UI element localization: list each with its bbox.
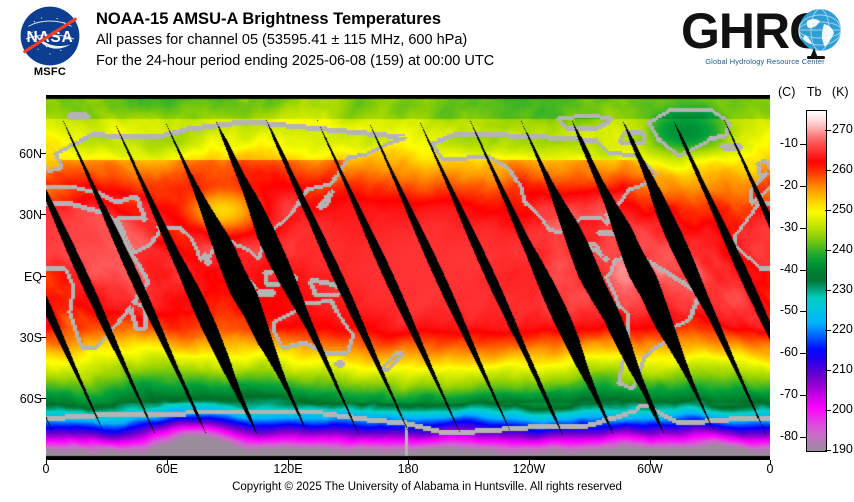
nasa-meatball-icon: NASA	[20, 6, 80, 66]
lon-tick-60e	[167, 460, 168, 465]
colorbar-celsius-label-5: -50	[768, 304, 798, 316]
colorbar-celsius-label-7: -70	[768, 388, 798, 400]
colorbar[interactable]	[806, 110, 827, 452]
lat-label-60n: 60N	[2, 148, 42, 160]
colorbar-kelvin-label-5: 220	[832, 323, 854, 335]
nasa-logo: NASA MSFC	[14, 6, 86, 84]
colorbar-unit-celsius: (C)	[778, 85, 795, 99]
colorbar-kelvin-label-7: 200	[832, 403, 854, 415]
colorbar-celsius-tick-7	[800, 395, 806, 396]
lon-tick-180	[408, 460, 409, 465]
colorbar-kelvin-tick-1	[825, 170, 831, 171]
colorbar-celsius-label-4: -40	[768, 263, 798, 275]
colorbar-kelvin-label-0: 270	[832, 123, 854, 135]
colorbar-kelvin-tick-6	[825, 370, 831, 371]
lat-tick-60n	[40, 153, 46, 154]
subtitle-period: For the 24-hour period ending 2025-06-08…	[96, 51, 494, 72]
colorbar-celsius-tick-2	[800, 186, 806, 187]
ghrc-tagline: Global Hydrology Resource Center	[681, 57, 849, 66]
colorbar-gradient	[807, 111, 826, 451]
colorbar-celsius-label-1: -10	[768, 137, 798, 149]
colorbar-kelvin-label-4: 230	[832, 283, 854, 295]
nasa-center-label: MSFC	[14, 66, 86, 78]
colorbar-kelvin-label-3: 240	[832, 243, 854, 255]
lon-tick-0e	[770, 460, 771, 465]
lon-tick-0w	[46, 460, 47, 465]
colorbar-quantity: Tb	[807, 85, 822, 99]
lat-label-30n: 30N	[2, 209, 42, 221]
lat-tick-30n	[40, 214, 46, 215]
lat-tick-30s	[40, 337, 46, 338]
map-raster	[46, 95, 770, 460]
lon-tick-120w	[529, 460, 530, 465]
colorbar-kelvin-label-8: 190	[832, 443, 854, 455]
brightness-temperature-map[interactable]	[46, 95, 770, 460]
lat-label-60s: 60S	[2, 393, 42, 405]
colorbar-kelvin-tick-8	[825, 450, 831, 451]
subtitle-channel: All passes for channel 05 (53595.41 ± 11…	[96, 30, 494, 51]
colorbar-kelvin-tick-0	[825, 130, 831, 131]
page-title: NOAA-15 AMSU-A Brightness Temperatures	[96, 8, 494, 30]
colorbar-kelvin-tick-7	[825, 410, 831, 411]
colorbar-celsius-label-3: -30	[768, 221, 798, 233]
lon-tick-60w	[650, 460, 651, 465]
colorbar-kelvin-tick-4	[825, 290, 831, 291]
lat-tick-60s	[40, 398, 46, 399]
colorbar-celsius-label-8: -80	[768, 430, 798, 442]
colorbar-celsius-tick-4	[800, 270, 806, 271]
colorbar-celsius-label-6: -60	[768, 346, 798, 358]
colorbar-kelvin-label-6: 210	[832, 363, 854, 375]
lat-tick-eq	[40, 276, 46, 277]
ghrc-logo: GHRC Global Hydrology Resource Center	[681, 4, 849, 78]
colorbar-celsius-tick-3	[800, 228, 806, 229]
lon-tick-120e	[288, 460, 289, 465]
lat-label-30s: 30S	[2, 332, 42, 344]
colorbar-kelvin-label-1: 260	[832, 163, 854, 175]
colorbar-unit-kelvin: (K)	[832, 85, 849, 99]
colorbar-celsius-label-2: -20	[768, 179, 798, 191]
title-block: NOAA-15 AMSU-A Brightness Temperatures A…	[96, 8, 494, 72]
lat-label-eq: EQ	[2, 271, 42, 283]
colorbar-header: (C) Tb (K)	[778, 85, 854, 99]
colorbar-celsius-tick-1	[800, 144, 806, 145]
svg-text:NASA: NASA	[26, 29, 73, 46]
colorbar-celsius-tick-5	[800, 311, 806, 312]
ghrc-wordmark-icon: GHRC	[681, 4, 849, 60]
copyright-notice: Copyright © 2025 The University of Alaba…	[0, 481, 854, 493]
colorbar-kelvin-label-2: 250	[832, 203, 854, 215]
colorbar-celsius-tick-8	[800, 437, 806, 438]
colorbar-kelvin-tick-5	[825, 330, 831, 331]
colorbar-kelvin-tick-2	[825, 210, 831, 211]
colorbar-celsius-tick-6	[800, 353, 806, 354]
colorbar-kelvin-tick-3	[825, 250, 831, 251]
